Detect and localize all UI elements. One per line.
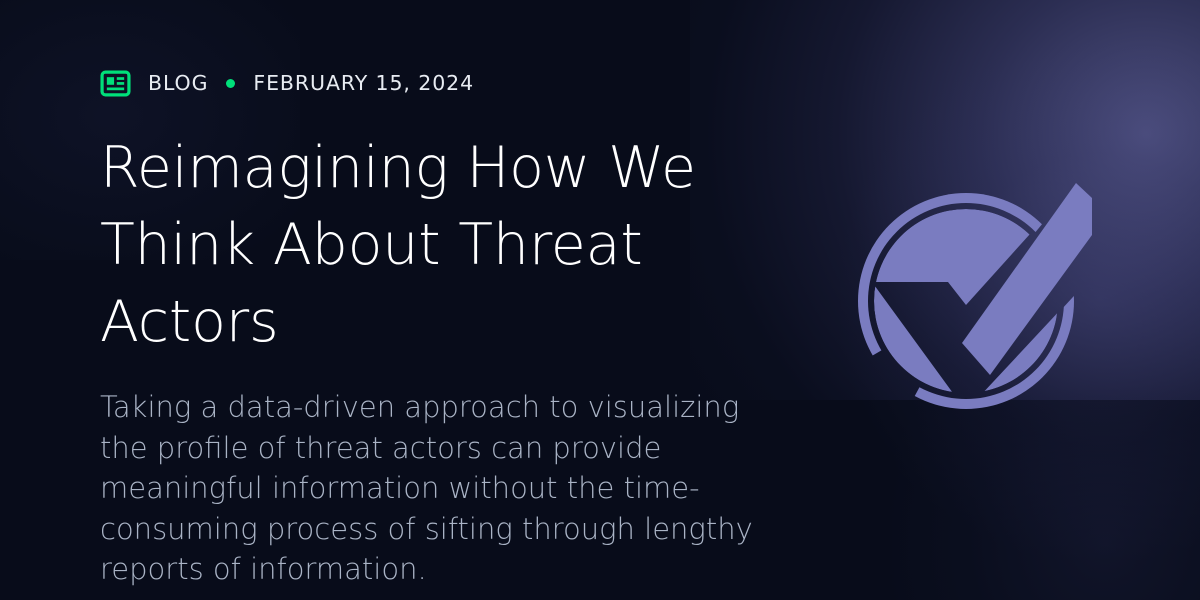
page-title-line-1: Reimagining How We	[100, 130, 800, 207]
page-title: Reimagining How We Think About Threat Ac…	[100, 130, 800, 361]
page-title-line-2: Think About Threat Actors	[100, 207, 800, 361]
post-meta: BLOG FEBRUARY 15, 2024	[100, 66, 800, 100]
blog-hero-card: BLOG FEBRUARY 15, 2024 Reimagining How W…	[0, 0, 1200, 600]
bullet-dot-icon	[226, 79, 235, 88]
article-icon	[100, 68, 131, 99]
post-excerpt: Taking a data-driven approach to visuali…	[100, 387, 790, 590]
brand-checkmark-ring-logo	[840, 175, 1092, 427]
post-date: FEBRUARY 15, 2024	[253, 71, 474, 95]
post-category[interactable]: BLOG	[148, 71, 208, 95]
hero-content: BLOG FEBRUARY 15, 2024 Reimagining How W…	[100, 66, 800, 590]
